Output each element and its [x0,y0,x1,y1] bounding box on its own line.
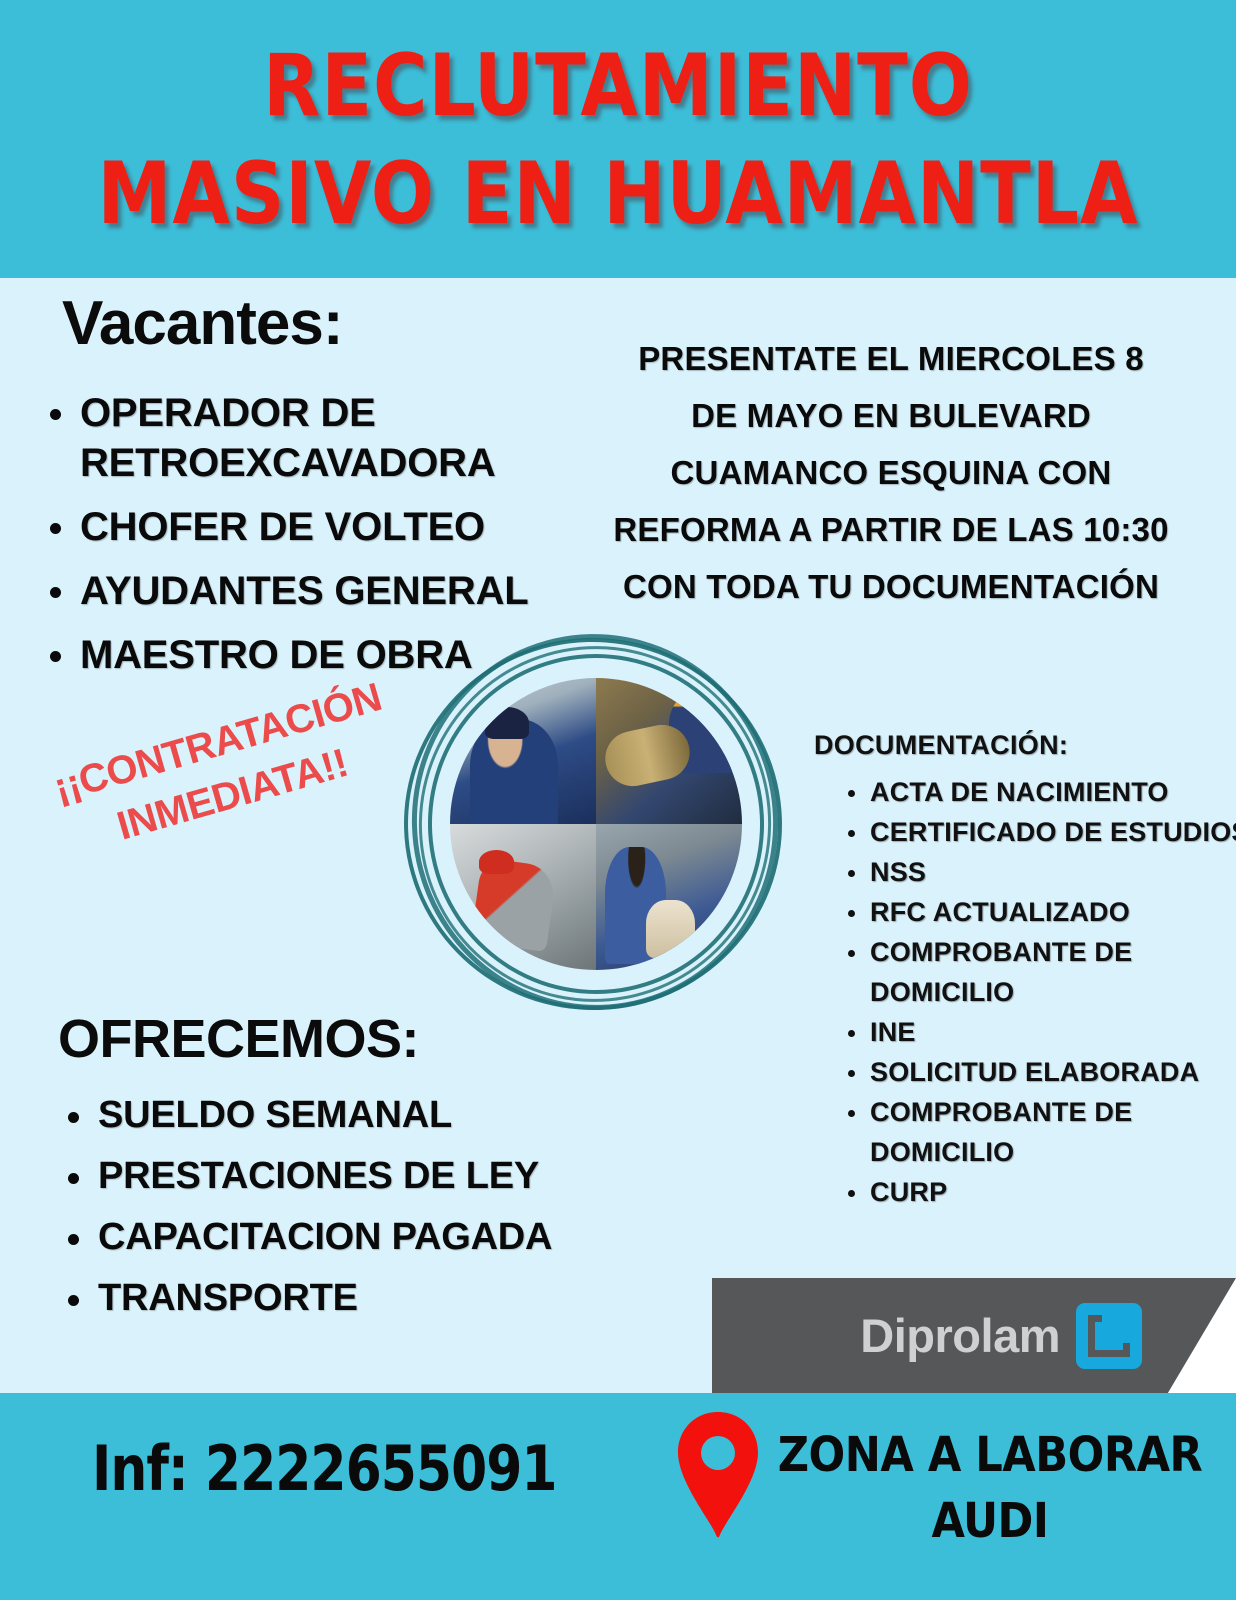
brand-name: Diprolam [860,1308,1060,1363]
list-item: PRESTACIONES DE LEY [98,1155,698,1198]
list-item: SOLICITUD ELABORADA [870,1052,1236,1092]
contact-phone[interactable]: Inf: 2222655091 [92,1432,557,1505]
offers-list: SUELDO SEMANAL PRESTACIONES DE LEY CAPAC… [52,1094,698,1338]
logo-fill-square [1102,1315,1130,1343]
list-item: CHOFER DE VOLTEO [80,502,620,552]
documentation-list: ACTA DE NACIMIENTO CERTIFICADO DE ESTUDI… [836,772,1236,1212]
list-item: CERTIFICADO DE ESTUDIOS [870,812,1236,852]
list-item: INE [870,1012,1236,1052]
photo-assembly-line [596,824,742,970]
list-item: TRANSPORTE [98,1277,698,1320]
list-item: CAPACITACION PAGADA [98,1216,698,1259]
photo-welder [450,678,596,824]
list-item: ACTA DE NACIMIENTO [870,772,1236,812]
list-item: AYUDANTES GENERAL [80,566,620,616]
offers-heading: OFRECEMOS: [58,1008,419,1070]
vacancies-heading: Vacantes: [62,288,343,359]
diprolam-logo-icon [1076,1303,1142,1369]
list-item: SUELDO SEMANAL [98,1094,698,1137]
brand-banner: Diprolam [712,1278,1236,1393]
list-item: RFC ACTUALIZADO [870,892,1236,932]
photo-red-helmet-worker [450,824,596,970]
page-title: RECLUTAMIENTO MASIVO EN HUAMANTLA [25,32,1212,248]
worker-photo-collage [404,634,784,1014]
list-item: COMPROBANTE DE DOMICILIO [870,932,1236,1012]
collage-photos [450,678,742,970]
recruitment-flyer: RECLUTAMIENTO MASIVO EN HUAMANTLA Vacant… [0,0,1236,1600]
photo-machinery-crew [596,678,742,824]
header-band: RECLUTAMIENTO MASIVO EN HUAMANTLA [0,0,1236,278]
map-pin-icon [672,1412,764,1538]
list-item: CURP [870,1172,1236,1212]
call-to-action-text: PRESENTATE EL MIERCOLES 8 DE MAYO EN BUL… [612,330,1170,615]
list-item: COMPROBANTE DE DOMICILIO [870,1092,1236,1172]
list-item: OPERADOR DE RETROEXCAVADORA [80,388,620,488]
brand-banner-content: Diprolam [712,1278,1142,1393]
work-zone-label: ZONA A LABORAR AUDI [770,1422,1210,1554]
documentation-heading: DOCUMENTACIÓN: [814,730,1068,761]
list-item: NSS [870,852,1236,892]
